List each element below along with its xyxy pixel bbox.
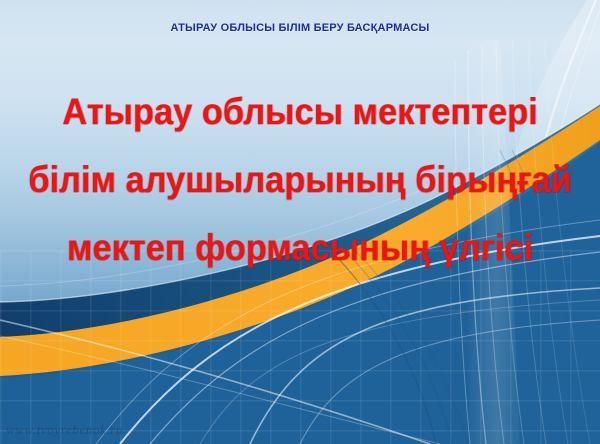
slide-title: Атырау облысы мектептері білім алушылары… [0, 78, 600, 282]
title-line-2: білім алушыларының бірыңғай [21, 146, 579, 214]
title-line-3: мектеп формасының үлгісі [21, 214, 579, 282]
header-title: АТЫРАУ ОБЛЫСЫ БІЛІМ БЕРУ БАСҚАРМАСЫ [171, 22, 430, 34]
title-line-1: Атырау облысы мектептері [21, 78, 579, 146]
header-banner: АТЫРАУ ОБЛЫСЫ БІЛІМ БЕРУ БАСҚАРМАСЫ [0, 18, 600, 36]
watermark-url: www.tvoyrebenok.ru [6, 422, 123, 438]
presentation-slide: АТЫРАУ ОБЛЫСЫ БІЛІМ БЕРУ БАСҚАРМАСЫ Атыр… [0, 0, 600, 444]
